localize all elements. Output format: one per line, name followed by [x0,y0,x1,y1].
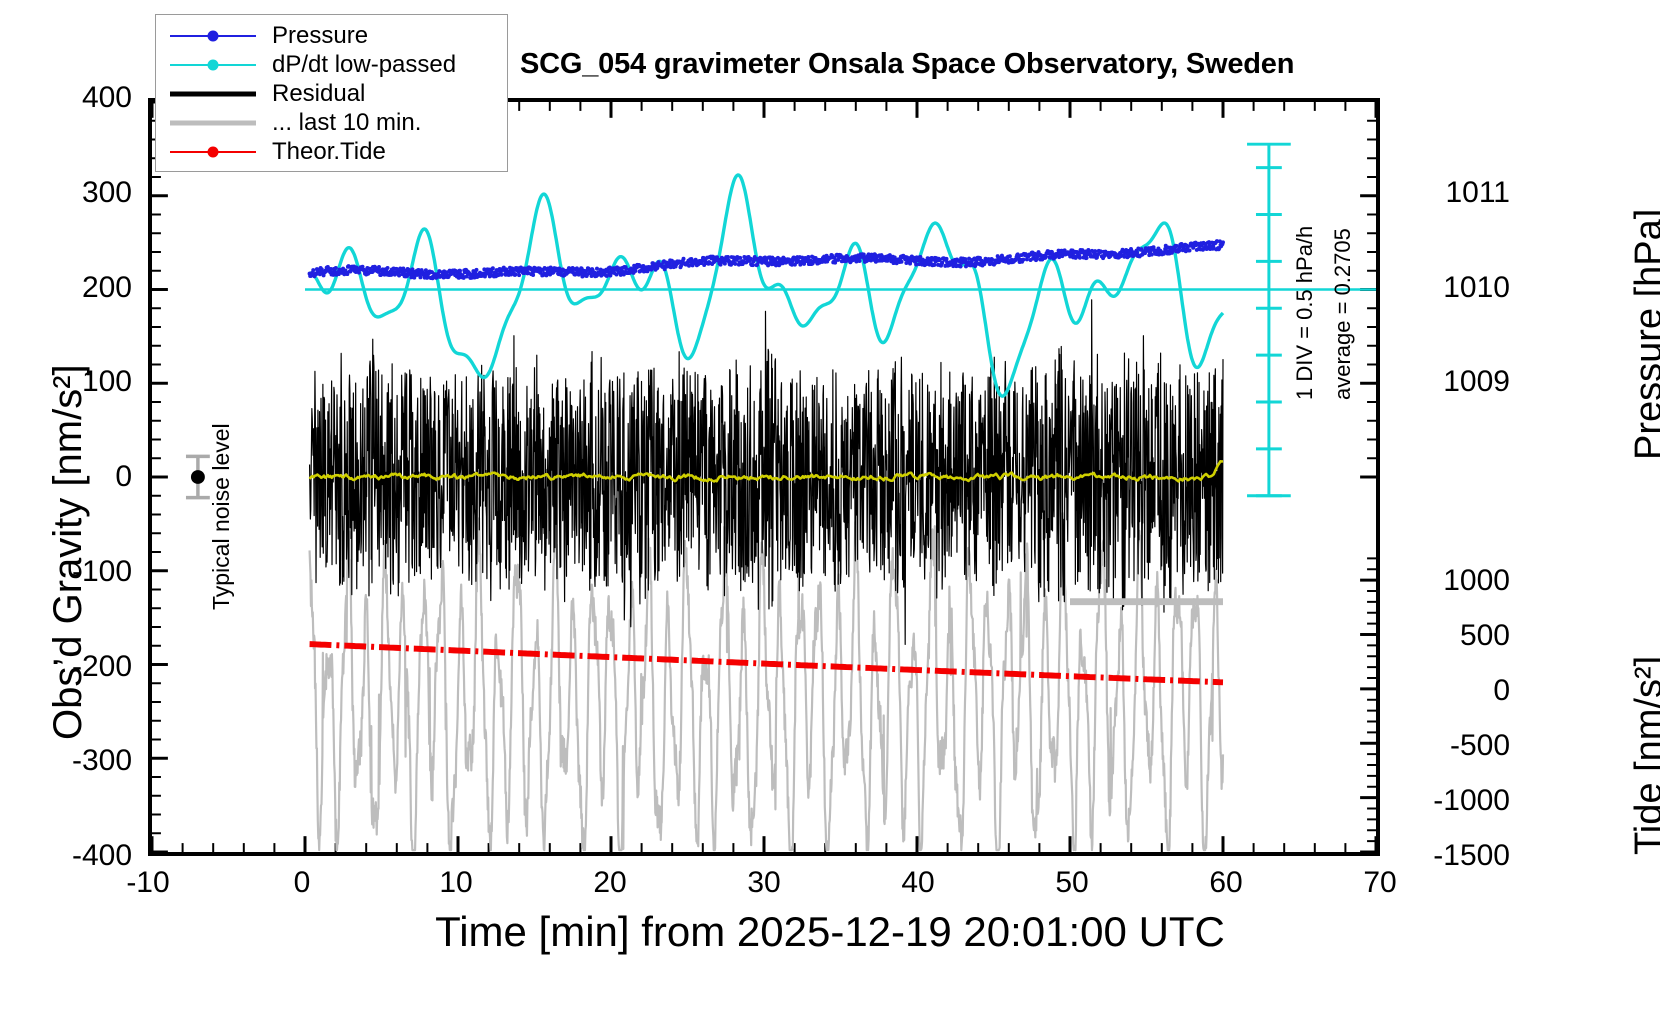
legend[interactable]: PressuredP/dt low-passedResidual... last… [155,14,508,172]
x-tick-label: 20 [565,866,655,900]
y-tick-label-gravity: 0 [0,460,132,494]
y-tick-label-pressure: 1009 [1400,365,1510,399]
legend-item-label: Pressure [272,22,368,50]
y-tick-label-tide: -1000 [1400,784,1510,818]
legend-item-4[interactable]: Theor.Tide [156,137,507,166]
y-tick-label-tide: -500 [1400,729,1510,763]
legend-dot-icon [208,30,219,41]
average-label: average = 0.2705 [1330,228,1356,400]
y-tick-label-gravity: 100 [0,365,132,399]
legend-item-label: dP/dt low-passed [272,51,456,79]
legend-line-icon [170,120,256,125]
chart-root: SCG_054 gravimeter Onsala Space Observat… [0,0,1660,1020]
legend-swatch-icon [170,142,256,162]
legend-swatch-icon [170,55,256,75]
x-tick-label: 40 [873,866,963,900]
y-tick-label-gravity: -200 [0,650,132,684]
legend-item-0[interactable]: Pressure [156,21,507,50]
legend-item-label: Theor.Tide [272,138,386,166]
series-last-10-min [310,513,1223,850]
page-title: SCG_054 gravimeter Onsala Space Observat… [520,48,1294,81]
legend-item-2[interactable]: Residual [156,79,507,108]
y-tick-label-gravity: -300 [0,744,132,778]
legend-item-label: ... last 10 min. [272,109,421,137]
x-tick-label: -10 [103,866,193,900]
div-scale-label: 1 DIV = 0.5 hPa/h [1292,226,1318,400]
y-tick-label-gravity: 300 [0,176,132,210]
noise-level-label: Typical noise level [208,423,235,610]
legend-item-3[interactable]: ... last 10 min. [156,108,507,137]
series-residual [310,300,1223,645]
legend-dot-icon [208,146,219,157]
legend-swatch-icon [170,84,256,104]
legend-swatch-icon [170,26,256,46]
y-axis-title-pressure: Pressure [hPa] [1628,209,1660,460]
y-axis-title-gravity: Obs’d Gravity [nm/s²] [46,364,91,740]
y-tick-label-pressure: 1011 [1400,176,1510,210]
legend-line-icon [170,91,256,96]
y-tick-label-tide: 0 [1400,674,1510,708]
plot-area: The latest 1-hour, 1-second sampling End… [148,98,1380,856]
y-tick-label-gravity: -100 [0,555,132,589]
x-tick-label: 0 [257,866,347,900]
legend-dot-icon [208,59,219,70]
y-axis-title-tide: Tide [nm/s²] [1628,656,1660,855]
legend-item-1[interactable]: dP/dt low-passed [156,50,507,79]
series-pressure [308,239,1225,280]
legend-swatch-icon [170,113,256,133]
y-tick-label-tide: 1000 [1400,564,1510,598]
legend-item-label: Residual [272,80,365,108]
y-tick-label-tide: 500 [1400,619,1510,653]
x-tick-label: 10 [411,866,501,900]
x-tick-label: 70 [1335,866,1425,900]
x-tick-label: 30 [719,866,809,900]
y-tick-label-gravity: 400 [0,81,132,115]
x-tick-label: 50 [1027,866,1117,900]
div-scale-bar [1247,144,1291,496]
plot-svg [152,102,1376,852]
x-axis-title: Time [min] from 2025-12-19 20:01:00 UTC [0,908,1660,956]
typical-noise-marker [186,456,210,497]
y-tick-label-gravity: 200 [0,271,132,305]
x-tick-label: 60 [1181,866,1271,900]
y-tick-label-pressure: 1010 [1400,271,1510,305]
